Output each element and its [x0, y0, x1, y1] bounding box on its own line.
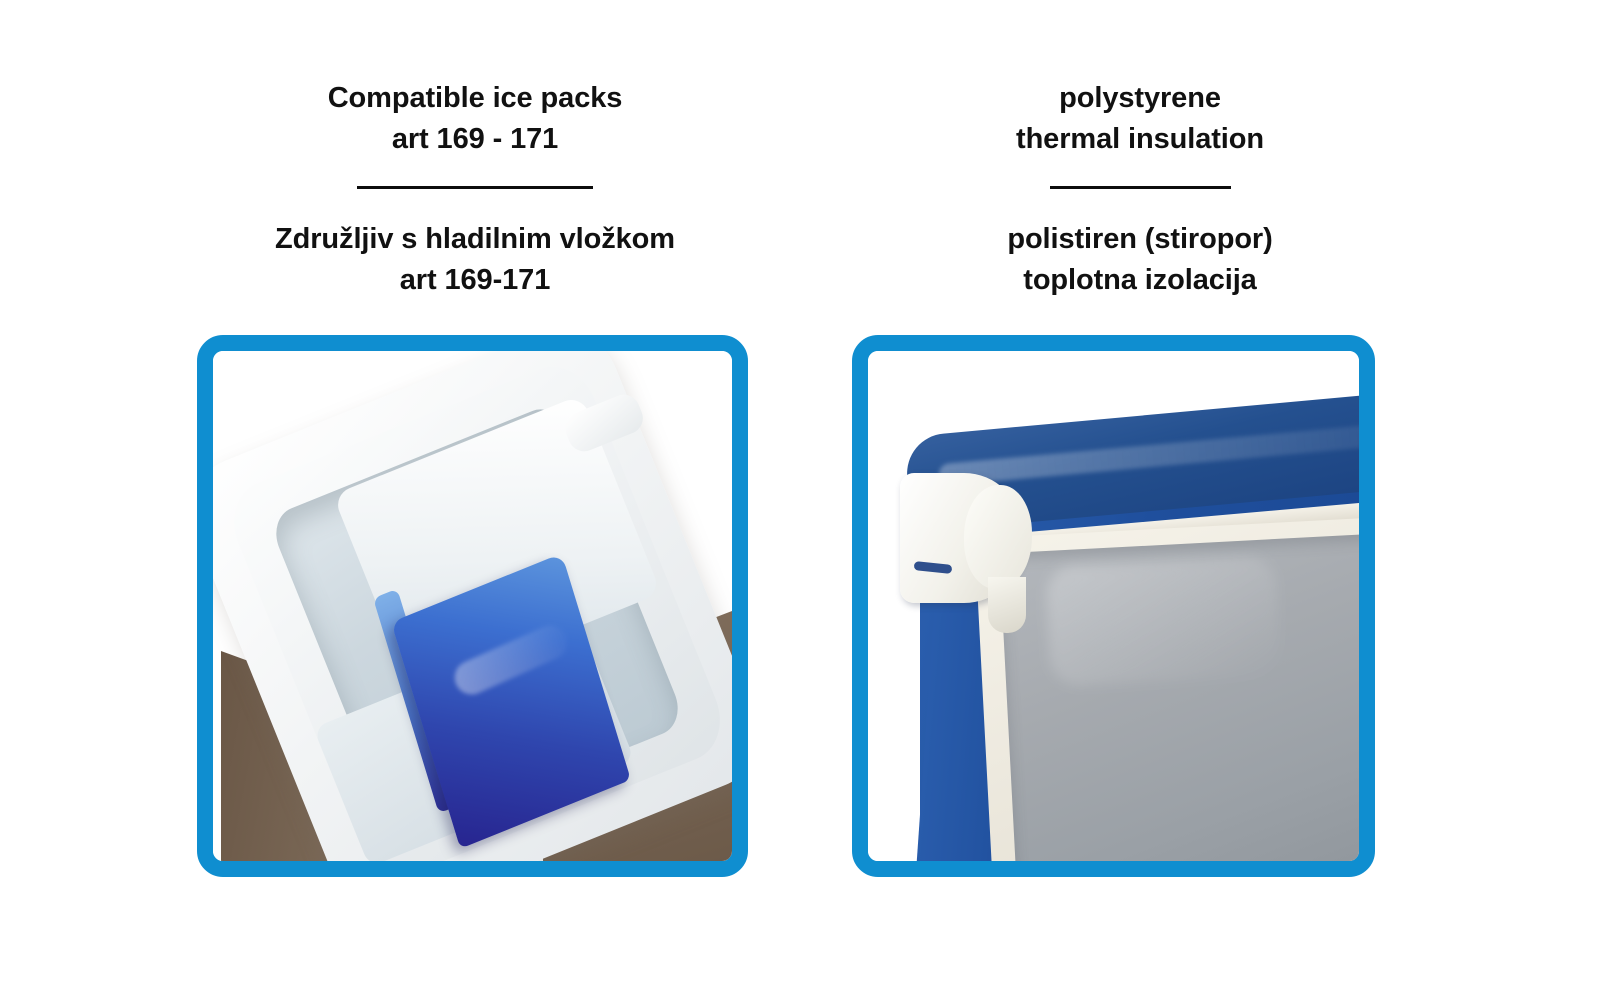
caption-en-line-1: polystyrene [790, 78, 1490, 119]
product-photo-ice-packs [213, 351, 732, 861]
foam-highlight [1045, 555, 1281, 687]
caption-block-insulation: polystyrene thermal insulation polistire… [790, 78, 1490, 301]
caption-divider-rule [357, 186, 593, 189]
caption-sl-line-1: Združljiv s hladilnim vložkom [125, 219, 825, 260]
photo-frame-insulation [852, 335, 1375, 877]
product-photo-insulation [868, 351, 1359, 861]
caption-en-line-2: art 169 - 171 [125, 119, 825, 160]
cooler-latch-tail [988, 577, 1026, 633]
panel-polystyrene-insulation: polystyrene thermal insulation polistire… [790, 0, 1490, 1000]
caption-sl-line-1: polistiren (stiropor) [790, 219, 1490, 260]
photo-frame-ice-packs [197, 335, 748, 877]
caption-block-ice-packs: Compatible ice packs art 169 - 171 Združ… [125, 78, 825, 301]
panel-ice-packs: Compatible ice packs art 169 - 171 Združ… [125, 0, 825, 1000]
caption-sl-line-2: toplotna izolacija [790, 260, 1490, 301]
caption-en-line-1: Compatible ice packs [125, 78, 825, 119]
caption-sl-line-2: art 169-171 [125, 260, 825, 301]
cooler-latch-lobe [964, 485, 1032, 589]
caption-divider-rule [1050, 186, 1231, 189]
infographic-board: Compatible ice packs art 169 - 171 Združ… [0, 0, 1600, 1000]
caption-en-line-2: thermal insulation [790, 119, 1490, 160]
